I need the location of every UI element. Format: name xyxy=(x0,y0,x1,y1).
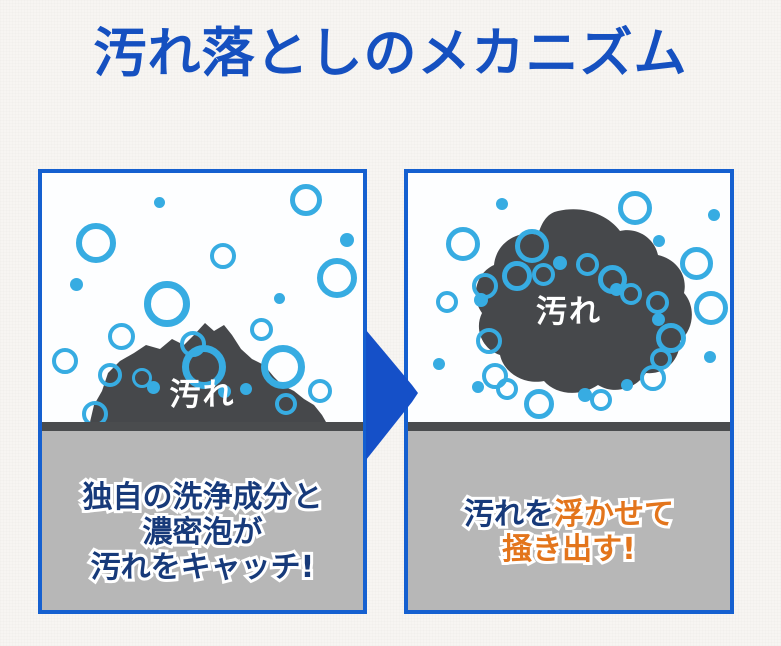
bubble xyxy=(680,247,713,280)
caption-segment: 浮かせて xyxy=(554,497,674,532)
bubble xyxy=(108,323,135,350)
scene-before: 汚れ xyxy=(42,173,363,422)
bubble xyxy=(553,256,567,270)
bubble xyxy=(515,229,549,263)
caption-segment: 汚れを xyxy=(464,497,554,532)
bubble xyxy=(704,351,716,363)
arrow-right-icon xyxy=(366,330,422,460)
caption-segment: 濃密泡が xyxy=(143,515,263,550)
caption-line: 独自の洗浄成分と xyxy=(42,481,363,516)
caption-segment: 掻き出す! xyxy=(502,532,636,567)
page-title: 汚れ落としのメカニズム xyxy=(0,24,781,83)
bubble xyxy=(317,258,357,298)
bubble xyxy=(76,223,116,263)
caption-line: 濃密泡が xyxy=(42,516,363,551)
bubble xyxy=(618,191,652,225)
caption-before: 独自の洗浄成分と濃密泡が汚れをキャッチ! xyxy=(42,481,363,585)
bubble xyxy=(144,281,190,327)
surface-line-after xyxy=(408,422,730,431)
bubble xyxy=(433,358,445,370)
panel-after: 汚れ 汚れを浮かせて掻き出す! xyxy=(404,169,734,614)
panel-before: 汚れ 独自の洗浄成分と濃密泡が汚れをキャッチ! xyxy=(38,169,367,614)
bubble xyxy=(340,233,354,247)
bubble xyxy=(621,379,633,391)
bubble xyxy=(210,243,236,269)
bubble xyxy=(524,389,554,419)
dirt-label-after: 汚れ xyxy=(408,286,730,331)
bubble xyxy=(496,198,508,210)
surface-line-before xyxy=(42,422,363,431)
bubble xyxy=(708,209,720,221)
bubble xyxy=(653,235,665,247)
scene-after: 汚れ xyxy=(408,173,730,422)
bubble xyxy=(274,293,285,304)
bubble xyxy=(446,227,480,261)
bubble xyxy=(476,328,502,354)
bubble xyxy=(250,318,273,341)
bubble xyxy=(532,263,555,286)
bubble xyxy=(472,381,484,393)
bubble xyxy=(290,184,322,216)
caption-line: 汚れをキャッチ! xyxy=(42,551,363,586)
bubble xyxy=(590,389,612,411)
caption-segment: 独自の洗浄成分と xyxy=(83,480,323,515)
caption-after: 汚れを浮かせて掻き出す! xyxy=(408,498,730,568)
bubble xyxy=(576,253,599,276)
bubble xyxy=(640,365,666,391)
bubble xyxy=(70,278,83,291)
caption-line: 汚れを浮かせて xyxy=(408,498,730,533)
caption-line: 掻き出す! xyxy=(408,533,730,568)
dirt-label-before: 汚れ xyxy=(42,369,363,414)
caption-segment: 汚れをキャッチ! xyxy=(91,550,315,585)
bubble xyxy=(496,378,518,400)
bubble xyxy=(154,197,165,208)
